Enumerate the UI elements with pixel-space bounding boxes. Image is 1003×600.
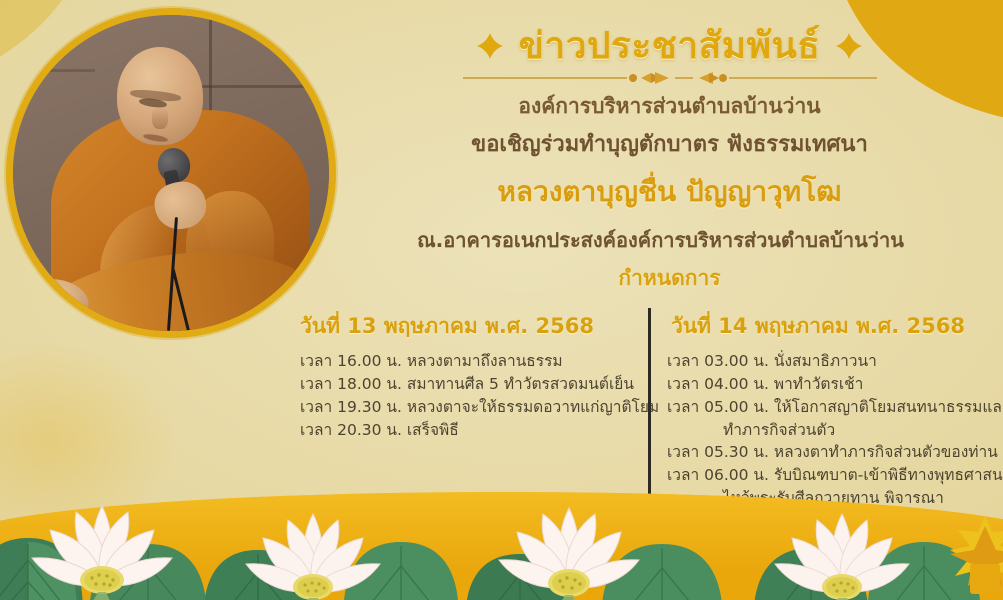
title-row: ข่าวประชาสัมพันธ์: [336, 26, 1003, 67]
monk-photo-oval-frame: [6, 8, 336, 338]
monk-photo: [6, 8, 336, 338]
ornamental-divider-icon: [455, 71, 885, 85]
agenda-label: กำหนดการ: [336, 262, 1003, 295]
schedule-item: เวลา 05.30 น. หลวงตาทำภารกิจส่วนตัวของท่…: [667, 441, 1003, 463]
schedule-item: เวลา 19.30 น. หลวงตาจะให้ธรรมดอวาทแก่ญาต…: [300, 396, 645, 418]
schedule-item: เวลา 03.00 น. นั่งสมาธิภาวนา: [667, 350, 1003, 372]
day1-date-heading: วันที่ 13 พฤษภาคม พ.ศ. 2568: [300, 310, 645, 343]
lotus-flower-icon: [238, 506, 388, 600]
monk-nose: [152, 107, 168, 129]
page-title: ข่าวประชาสัมพันธ์: [519, 26, 821, 67]
schedule-item: เวลา 18.00 น. สมาทานศีล 5 ทำวัตรสวดมนต์เ…: [300, 373, 645, 395]
diamond-ornament-icon: [477, 33, 503, 59]
monk-name: หลวงตาบุญชื่น ปัญญาวุทโฒ: [336, 170, 1003, 214]
schedule-item: เวลา 20.30 น. เสร็จพิธี: [300, 419, 645, 441]
schedule-item: เวลา 04.00 น. พาทำวัตรเช้า: [667, 373, 1003, 395]
schedule-item: เวลา 05.00 น. ให้โอกาสญาติโยมสนทนาธรรมแล…: [667, 396, 1003, 418]
invitation-line: ขอเชิญร่วมทำบุญตักบาตร ฟังธรรมเทศนา: [336, 128, 1003, 161]
diamond-ornament-icon: [836, 33, 862, 59]
schedule-item: เวลา 16.00 น. หลวงตามาถึงลานธรรม: [300, 350, 645, 372]
monk-photo-scene: [13, 15, 329, 331]
organization-name: องค์การบริหารส่วนตำบลบ้านว่าน: [336, 91, 1003, 123]
bottom-lotus-band: [0, 492, 1003, 600]
venue-line: ณ.อาคารอเนกประสงค์องค์การบริหารส่วนตำบลบ…: [318, 224, 1003, 256]
thai-pagoda-roof-icon: [940, 516, 1003, 600]
wall-seam-horizontal-left: [13, 69, 95, 72]
lotus-flower-icon: [22, 496, 182, 600]
schedule-item: เวลา 06.00 น. รับบิณฑบาต-เข้าพิธีทางพุทธ…: [667, 464, 1003, 486]
schedule-column-divider: [648, 308, 651, 500]
day2-date-heading: วันที่ 14 พฤษภาคม พ.ศ. 2568: [671, 310, 1003, 343]
poster-canvas: ข่าวประชาสัมพันธ์ องค์การบริหารส่วนตำบลบ…: [0, 0, 1003, 600]
schedule-item-continuation: ทำภารกิจส่วนตัว: [667, 419, 1003, 441]
lotus-flower-icon: [490, 500, 648, 600]
header-text-block: ข่าวประชาสัมพันธ์ องค์การบริหารส่วนตำบลบ…: [336, 0, 1003, 300]
lotus-flower-icon: [766, 506, 918, 600]
